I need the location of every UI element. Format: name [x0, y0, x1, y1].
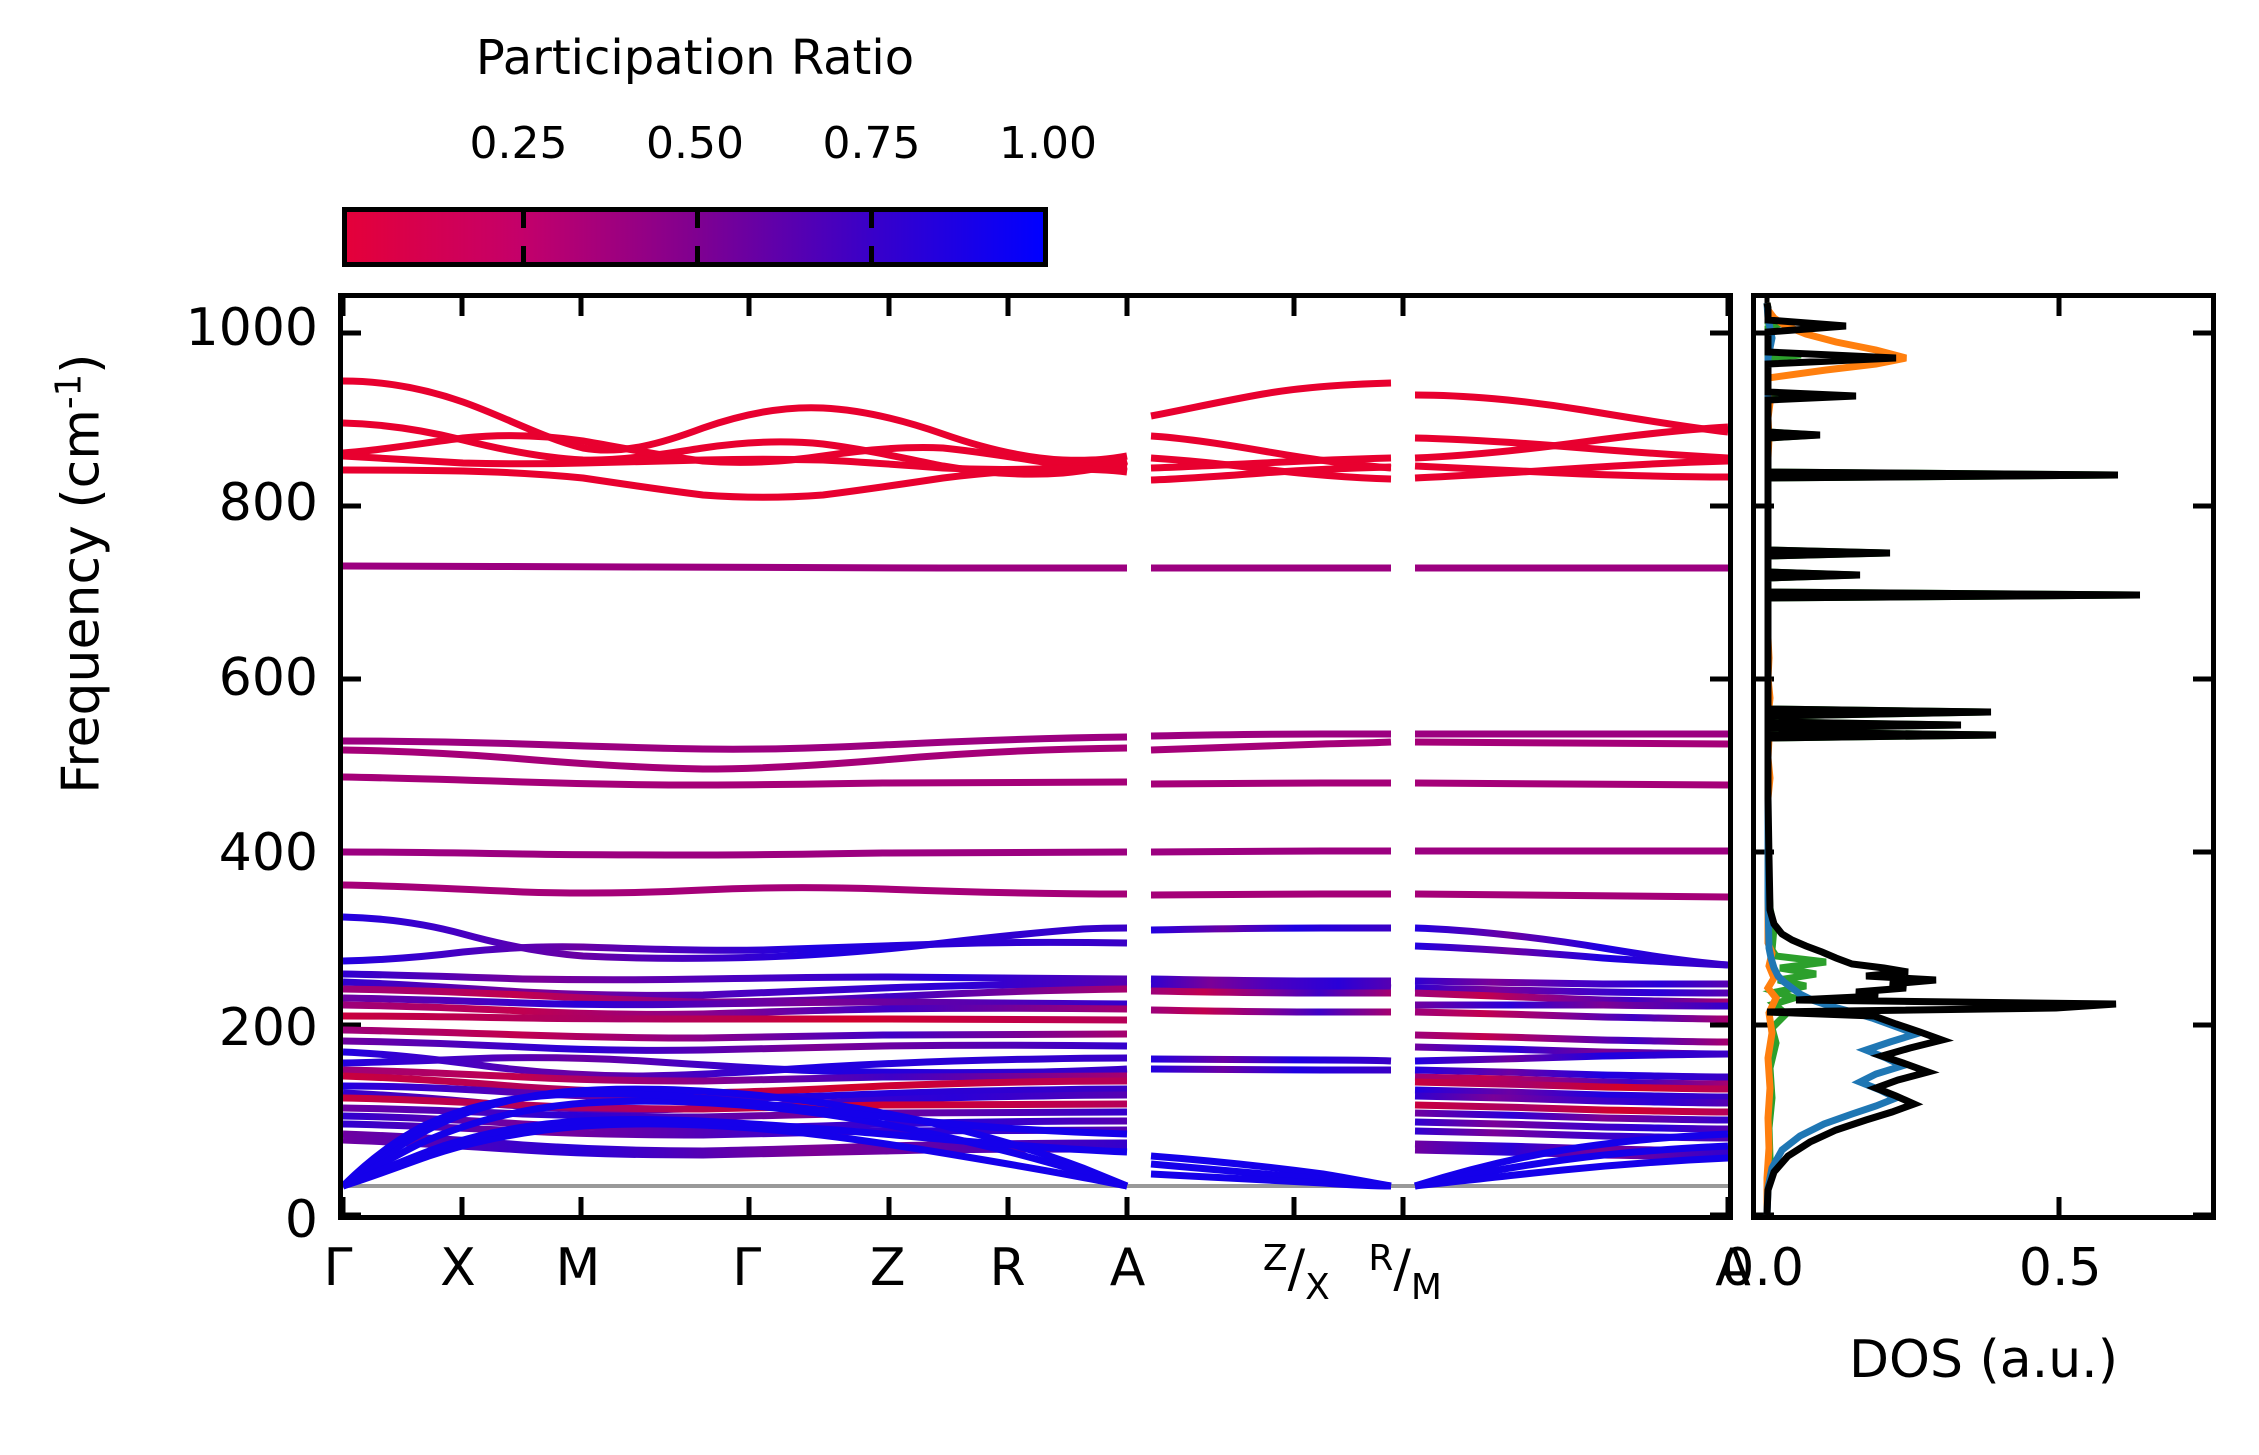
- y-tick-label-800: 800: [219, 473, 318, 533]
- y-tick-label-400: 400: [219, 823, 318, 883]
- band-structure-svg: [343, 298, 1728, 1215]
- dos-x-tick-label-00: 0.0: [1721, 1238, 1804, 1298]
- dos-curves-container: [1756, 298, 2211, 1215]
- x-tick-label-M: M: [556, 1238, 601, 1298]
- y-axis-label-close: ): [52, 354, 112, 374]
- colorbar-tickmark-025-bottom: [521, 246, 526, 262]
- x-tick-label-X: X: [440, 1238, 476, 1298]
- phonon-band-structure-plot[interactable]: [338, 293, 1733, 1220]
- y-tick-label-200: 200: [219, 998, 318, 1058]
- x-tick-label-gamma2: Γ: [732, 1238, 761, 1298]
- colorbar-tickmark-075-top: [869, 212, 874, 228]
- band-group-mid-470: [343, 852, 1127, 894]
- y-axis-label-text: Frequency (cm: [52, 409, 112, 794]
- colorbar-tick-label-100: 1.00: [999, 118, 1097, 169]
- y-axis-label: Frequency (cm-1): [48, 124, 111, 1024]
- x-tick-label-ZX-slash: /: [1288, 1239, 1306, 1299]
- x-tick-label-RM: R/M: [1368, 1238, 1442, 1308]
- band-segment-zx-rm: [1151, 383, 1391, 1186]
- y-tick-label-1000: 1000: [186, 298, 318, 358]
- x-tick-label-RM-slash: /: [1393, 1239, 1411, 1299]
- band-group-mid-600: [343, 737, 1127, 785]
- band-group-upper-optical: [343, 381, 1127, 497]
- x-tick-label-ZX: Z/X: [1263, 1238, 1330, 1308]
- colorbar-tickmark-075-bottom: [869, 246, 874, 262]
- x-tick-label-RM-denominator: M: [1411, 1267, 1442, 1308]
- colorbar-tickmark-050-bottom: [695, 246, 700, 262]
- figure-canvas: Participation Ratio 0.25 0.50 0.75 1.00 …: [0, 0, 2259, 1455]
- band-curves-container: [343, 298, 1728, 1215]
- x-tick-label-ZX-numerator: Z: [1263, 1238, 1288, 1279]
- band-group-acoustic-low: [343, 917, 1127, 1186]
- dos-x-axis-tick-labels: 0.0 0.5: [1751, 1238, 2216, 1308]
- band-group-flat-805: [343, 566, 1127, 568]
- dos-x-tick-label-05: 0.5: [2019, 1238, 2102, 1298]
- colorbar-tickmark-025-top: [521, 212, 526, 228]
- y-axis-label-exponent: -1: [48, 374, 89, 409]
- x-tick-label-ZX-denominator: X: [1305, 1267, 1330, 1308]
- x-tick-label-R: R: [990, 1238, 1026, 1298]
- colorbar-tick-label-075: 0.75: [823, 118, 921, 169]
- colorbar-tick-label-050: 0.50: [646, 118, 744, 169]
- dos-svg: [1756, 298, 2211, 1215]
- y-tick-label-600: 600: [219, 648, 318, 708]
- y-axis-tick-labels: 0 200 400 600 800 1000: [110, 293, 318, 1220]
- x-tick-label-RM-numerator: R: [1368, 1238, 1393, 1279]
- colorbar-title: Participation Ratio: [342, 30, 1048, 86]
- dos-x-axis-label: DOS (a.u.): [1751, 1330, 2216, 1390]
- dos-curve-Total: [1767, 303, 2140, 1215]
- x-axis-tick-labels: Γ X M Γ Z R A Z/X R/M A: [338, 1238, 1733, 1328]
- colorbar-tick-label-025: 0.25: [470, 118, 568, 169]
- colorbar-tick-labels: 0.25 0.50 0.75 1.00: [342, 118, 1048, 178]
- band-segment-rm-a: [1415, 395, 1728, 1186]
- x-tick-label-Z: Z: [870, 1238, 906, 1298]
- x-tick-label-A: A: [1110, 1238, 1146, 1298]
- x-tick-label-gamma1: Γ: [324, 1238, 353, 1298]
- dos-curve-O: [1767, 303, 2136, 1215]
- y-tick-label-0: 0: [285, 1190, 318, 1250]
- colorbar-tickmark-050-top: [695, 212, 700, 228]
- participation-ratio-colorbar[interactable]: [342, 207, 1048, 267]
- phonon-dos-plot[interactable]: Total K C O: [1751, 293, 2216, 1220]
